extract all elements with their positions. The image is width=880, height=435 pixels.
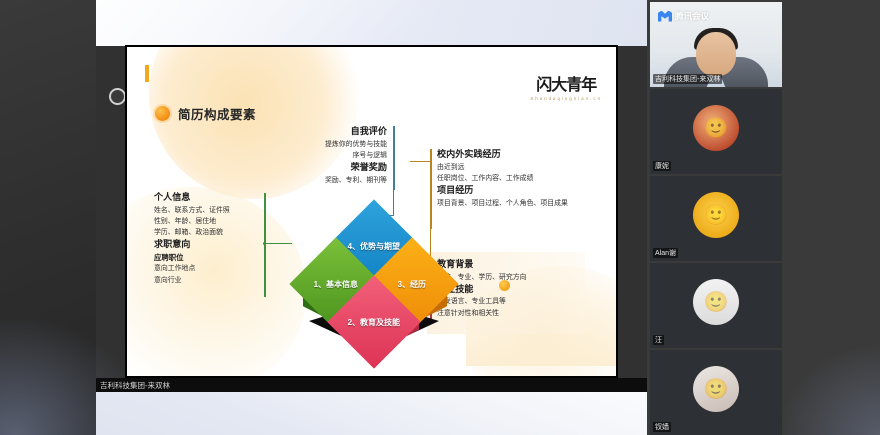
tencent-meeting-watermark: 腾讯会议 xyxy=(658,10,709,22)
quadrant-diamond-diagram: 4、优势与期望 1、基本信息 3、经历 2、教育及技能 xyxy=(279,197,469,347)
self-evaluation-line-2: 序号与逻辑 xyxy=(275,150,387,161)
window-sheen xyxy=(96,392,647,435)
brand-logo-subtext: Shandaqingnian.cn xyxy=(530,96,602,101)
participant-video-rail[interactable]: 腾讯会议 吉利科技集团-来双林 🙂 康妮 🙂 Alan谢 🙂 汪 🙂 xyxy=(650,2,782,435)
text-block-personal-info: 个人信息 姓名、联系方式、证件照 性别、年龄、居住地 学历、邮箱、政治面貌 求职… xyxy=(154,191,258,286)
brand-logo-text: 闪大青年 xyxy=(530,71,602,95)
avatar-face-icon: 🙂 xyxy=(704,116,729,141)
avatar-face-icon: 🙂 xyxy=(704,290,729,315)
honors-line-1: 奖励、专利、期刊等 xyxy=(275,175,387,186)
honors-heading: 荣誉奖励 xyxy=(275,161,387,175)
job-intention-heading: 求职意向 xyxy=(154,238,258,252)
job-intention-line-1: 意向工作地点 xyxy=(154,263,258,274)
participant-tile-2[interactable]: 🙂 Alan谢 xyxy=(650,176,782,261)
brand-logo: 闪大青年 Shandaqingnian.cn xyxy=(530,71,602,101)
project-heading: 项目经历 xyxy=(437,184,569,198)
self-evaluation-heading: 自我评价 xyxy=(275,125,387,139)
participant-tile-3[interactable]: 🙂 汪 xyxy=(650,263,782,348)
tencent-meeting-label: 腾讯会议 xyxy=(675,10,709,22)
job-intention-line-2: 意向行业 xyxy=(154,275,258,286)
quadrant-label-basic-info: 1、基本信息 xyxy=(314,278,358,289)
participant-name-4: 钗嫱 xyxy=(653,422,671,432)
accent-rule-self-evaluation xyxy=(393,126,395,190)
participant-tile-4[interactable]: 🙂 钗嫱 xyxy=(650,350,782,435)
tencent-meeting-logo-icon xyxy=(658,11,672,22)
connector-practice-h xyxy=(410,161,431,162)
quadrant-label-advantages: 4、优势与期望 xyxy=(348,240,400,251)
avatar-face-icon: 🙂 xyxy=(704,377,729,402)
personal-info-line-1: 姓名、联系方式、证件照 xyxy=(154,205,258,216)
practice-heading: 校内外实践经历 xyxy=(437,148,569,162)
screen-share-region[interactable]: 简历构成要素 闪大青年 Shandaqingnian.cn 自我评价 提炼你的优… xyxy=(96,40,647,385)
share-presenter-bar: 吉利科技集团-来双林 xyxy=(96,378,647,392)
shared-slide-frame: 简历构成要素 闪大青年 Shandaqingnian.cn 自我评价 提炼你的优… xyxy=(125,45,618,378)
desktop-glow-right xyxy=(780,345,880,435)
presenter-head xyxy=(696,32,736,76)
practice-line-2: 任职岗位、工作内容、工作成绩 xyxy=(437,173,569,184)
participant-avatar-1: 🙂 xyxy=(693,105,739,151)
meeting-window: 简历构成要素 闪大青年 Shandaqingnian.cn 自我评价 提炼你的优… xyxy=(0,0,880,435)
participant-name-1: 康妮 xyxy=(653,161,671,171)
quadrant-label-education-skills: 2、教育及技能 xyxy=(348,316,400,327)
participant-avatar-3: 🙂 xyxy=(693,279,739,325)
slide-accent-tick xyxy=(145,65,149,82)
participant-tile-1[interactable]: 🙂 康妮 xyxy=(650,89,782,174)
personal-info-heading: 个人信息 xyxy=(154,191,258,205)
participant-name-0: 吉利科技集团-来双林 xyxy=(653,74,722,84)
accent-rule-personal xyxy=(264,193,266,297)
participant-avatar-4: 🙂 xyxy=(693,366,739,412)
practice-line-1: 由近到远 xyxy=(437,162,569,173)
slide-title: 简历构成要素 xyxy=(155,104,256,123)
self-evaluation-line-1: 提炼你的优势与技能 xyxy=(275,139,387,150)
text-block-self-evaluation: 自我评价 提炼你的优势与技能 序号与逻辑 荣誉奖励 奖励、专利、期刊等 xyxy=(275,125,387,186)
share-presenter-name: 吉利科技集团-来双林 xyxy=(100,380,170,391)
participant-name-2: Alan谢 xyxy=(653,248,678,258)
slide-title-text: 简历构成要素 xyxy=(178,104,256,123)
participant-avatar-2: 🙂 xyxy=(693,192,739,238)
presentation-slide: 简历构成要素 闪大青年 Shandaqingnian.cn 自我评价 提炼你的优… xyxy=(127,47,616,376)
participant-tile-0[interactable]: 腾讯会议 吉利科技集团-来双林 xyxy=(650,2,782,87)
background-window-bottom xyxy=(96,392,647,435)
share-handle-knob[interactable] xyxy=(109,88,126,105)
job-intention-sub: 应聘职位 xyxy=(154,252,258,263)
quadrant-label-experience: 3、经历 xyxy=(398,278,426,289)
avatar-face-icon: 🙂 xyxy=(704,203,729,228)
personal-info-line-2: 性别、年龄、居住地 xyxy=(154,216,258,227)
bullet-dot-icon xyxy=(155,106,170,121)
participant-name-3: 汪 xyxy=(653,335,664,345)
personal-info-line-3: 学历、邮箱、政治面貌 xyxy=(154,227,258,238)
